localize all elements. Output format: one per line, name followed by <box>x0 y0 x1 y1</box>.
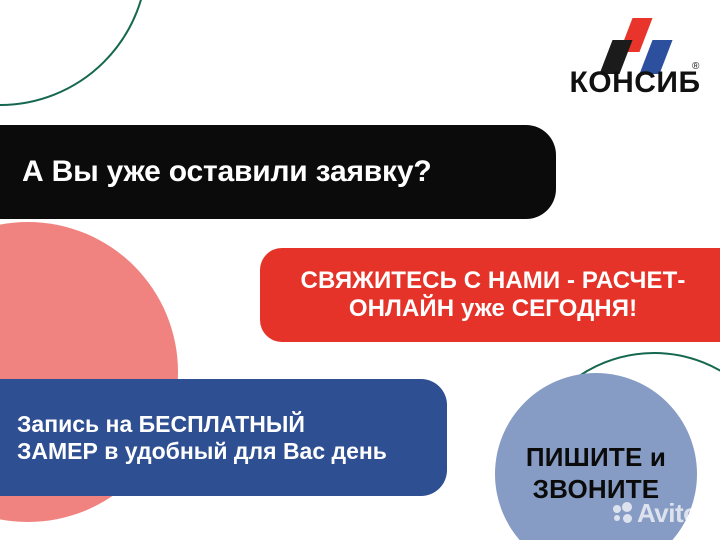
headline-banner: А Вы уже оставили заявку? <box>0 125 556 219</box>
call-to-action-line-2: ЗВОНИТЕ <box>533 474 660 504</box>
contact-text: СВЯЖИТЕСЬ С НАМИ - РАСЧЕТ- ОНЛАЙН уже СЕ… <box>282 267 704 323</box>
booking-text: Запись на БЕСПЛАТНЫЙ ЗАМЕР в удобный для… <box>17 411 387 464</box>
headline-text: А Вы уже оставили заявку? <box>22 155 431 190</box>
booking-text-line-2: ЗАМЕР в удобный для Вас день <box>17 438 387 464</box>
registered-trademark-symbol: ® <box>692 62 699 72</box>
contact-text-line-2: ОНЛАЙН уже СЕГОДНЯ! <box>349 295 637 322</box>
booking-text-line-1: Запись на БЕСПЛАТНЫЙ <box>17 411 305 437</box>
brand-name: КОНСИБ <box>564 68 706 98</box>
call-to-action-line-1: ПИШИТЕ и <box>526 442 666 472</box>
brand-logo: КОНСИБ ® <box>564 18 706 106</box>
booking-banner: Запись на БЕСПЛАТНЫЙ ЗАМЕР в удобный для… <box>0 379 447 496</box>
green-ring-decoration-top-left <box>0 0 148 106</box>
contact-text-line-1: СВЯЖИТЕСЬ С НАМИ - РАСЧЕТ- <box>301 267 686 294</box>
contact-banner: СВЯЖИТЕСЬ С НАМИ - РАСЧЕТ- ОНЛАЙН уже СЕ… <box>260 248 720 342</box>
promo-poster: КОНСИБ ® А Вы уже оставили заявку? СВЯЖИ… <box>0 0 720 540</box>
call-to-action-badge: ПИШИТЕ и ЗВОНИТЕ <box>495 373 697 540</box>
call-to-action-text: ПИШИТЕ и ЗВОНИТЕ <box>526 442 666 505</box>
logo-mark-icon <box>564 18 706 66</box>
